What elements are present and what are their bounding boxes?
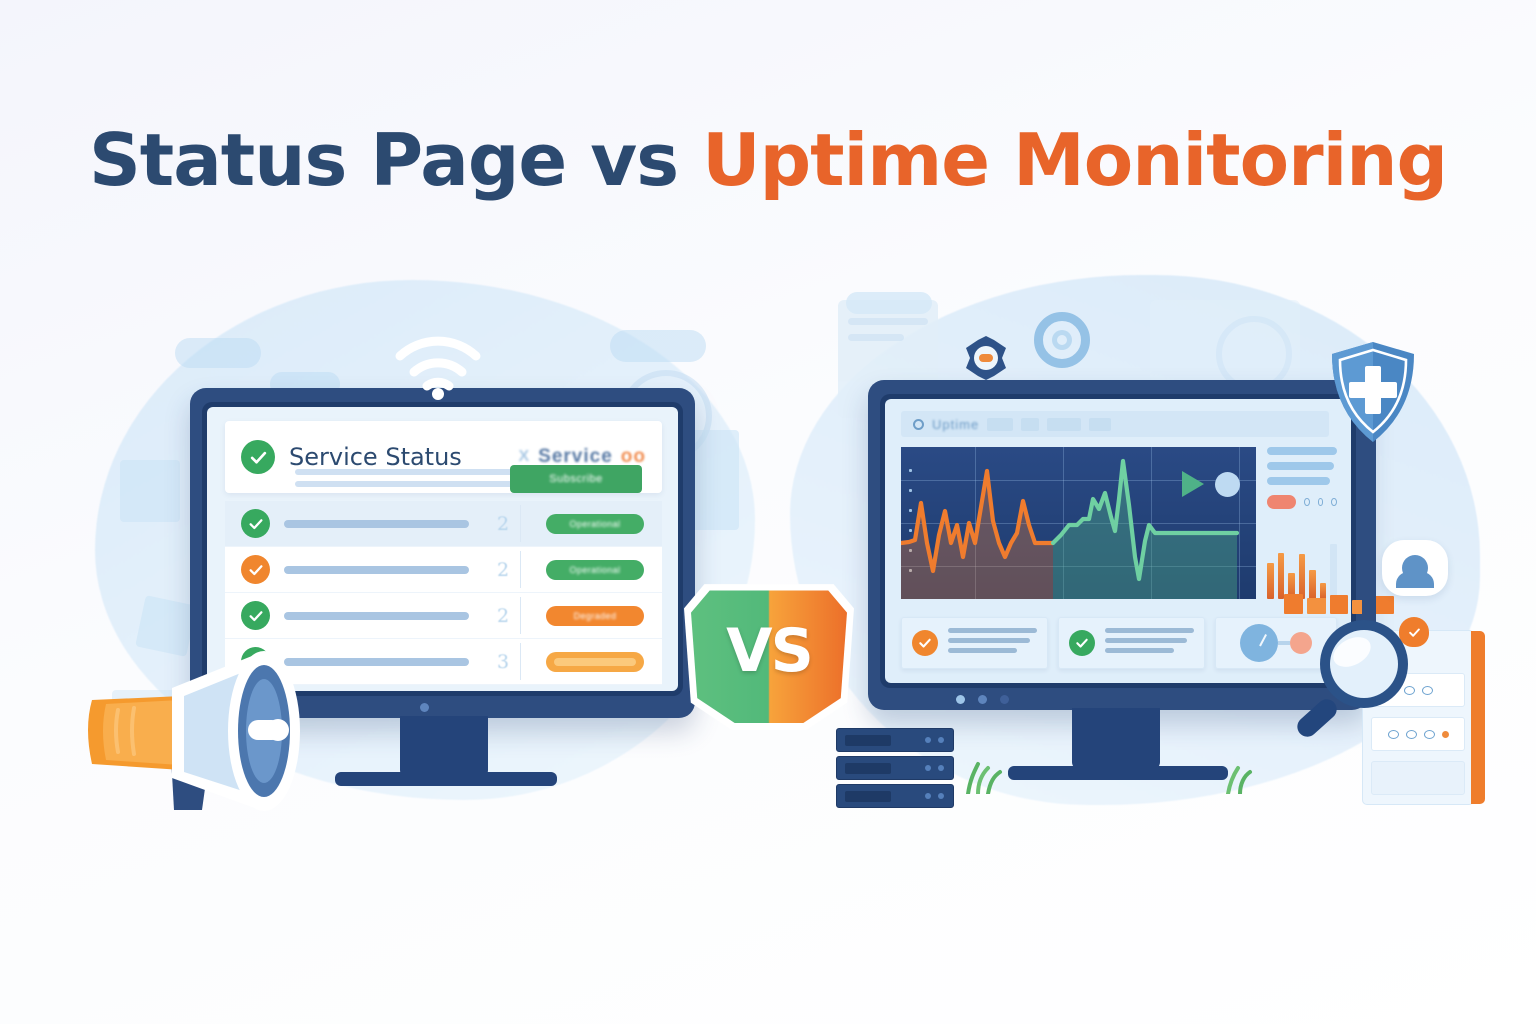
decorative-square: [120, 460, 180, 522]
incident-bar-chart: [1267, 537, 1337, 599]
sidebar-line: [1267, 447, 1337, 455]
monitor-stand-base-left: [335, 772, 557, 786]
monitor-bezel-inner-right: Uptime: [880, 394, 1356, 688]
server-unit: [836, 784, 954, 808]
subscribe-button[interactable]: Subscribe: [510, 465, 642, 493]
check-circle-icon: [912, 630, 938, 656]
table-row[interactable]: 2 Operational: [225, 547, 662, 593]
check-circle-icon: [1069, 630, 1095, 656]
page-title: Status Page vs Uptime Monitoring: [0, 118, 1536, 202]
server-unit: [836, 728, 954, 752]
dashboard-toolbar[interactable]: Uptime: [901, 411, 1329, 437]
title-part-orange: Uptime Monitoring: [702, 118, 1447, 202]
toolbar-segment: [1021, 418, 1039, 431]
vs-badge: VS: [684, 578, 854, 730]
status-badge: Operational: [546, 560, 644, 580]
dashboard-card-row: [901, 617, 1337, 669]
sidebar-pill-row: [1267, 495, 1337, 509]
logo-x-mark: X: [518, 448, 530, 466]
toolbar-segment: [1047, 418, 1081, 431]
magnifier-icon: [1288, 612, 1418, 752]
toolbar-title: Uptime: [932, 417, 979, 432]
card-text-lines: [948, 628, 1037, 658]
check-circle-icon: [241, 601, 270, 630]
circle-outline-icon: [1318, 498, 1324, 506]
table-row[interactable]: 2 Operational: [225, 501, 662, 547]
response-time-chart: [901, 447, 1256, 599]
cloud-icon: [610, 330, 706, 362]
rack-row[interactable]: [1371, 761, 1465, 795]
toolbar-segment: [987, 418, 1013, 431]
table-row[interactable]: 2 Degraded: [225, 593, 662, 639]
server-unit: [836, 756, 954, 780]
megaphone-icon: [62, 638, 322, 813]
dashboard-sidebar: [1267, 447, 1337, 509]
bar-ghost: [1330, 544, 1337, 599]
circle-outline-icon: [1331, 498, 1337, 506]
service-status-title: Service Status: [289, 443, 462, 471]
alert-badge-icon: [962, 334, 1010, 382]
sidebar-line: [1267, 477, 1330, 485]
card-text-lines: [1105, 628, 1194, 658]
document-panel: [846, 292, 932, 314]
mini-bar-strip: [1284, 594, 1394, 614]
row-divider: [520, 551, 521, 588]
circle-outline-icon: [1304, 498, 1310, 506]
wifi-icon: [392, 334, 484, 402]
panel-spine: [1471, 631, 1485, 804]
monitor-led: [956, 695, 965, 704]
status-badge-label: Degraded: [546, 606, 644, 626]
uptime-dashboard-screen: Uptime: [885, 399, 1351, 683]
row-divider: [520, 643, 521, 680]
dashboard-card[interactable]: [1058, 617, 1205, 669]
row-divider: [520, 597, 521, 634]
dashboard-card[interactable]: [901, 617, 1048, 669]
check-circle-icon: [241, 440, 275, 474]
avatar: [1402, 555, 1428, 581]
status-badge: Operational: [546, 514, 644, 534]
cloud-icon: [175, 338, 261, 368]
shield-cross-icon: [1328, 340, 1418, 445]
status-badge-label: Operational: [546, 514, 644, 534]
check-circle-icon: [241, 509, 270, 538]
row-label-bar: [284, 612, 469, 620]
vs-badge-label: VS: [684, 578, 854, 730]
monitor-stand-neck-left: [400, 716, 488, 778]
gear-icon: [1034, 312, 1090, 368]
monitor-led: [420, 703, 429, 712]
grass-decoration: [962, 758, 1008, 799]
monitor-stand-neck-right: [1072, 708, 1160, 770]
service-status-header: Service Status X Service oo Subscribe: [225, 421, 662, 493]
row-count: 2: [497, 513, 509, 535]
monitor-led: [1000, 695, 1009, 704]
title-part-navy: Status Page vs: [89, 118, 702, 202]
avatar-bubble-icon: [1382, 540, 1448, 596]
subscribe-button-label: Subscribe: [510, 465, 642, 493]
grass-decoration: [1222, 762, 1262, 799]
monitor-led: [978, 695, 987, 704]
status-badge-inner: [554, 658, 636, 666]
row-label-bar: [284, 520, 469, 528]
toolbar-segment: [1089, 418, 1111, 431]
row-divider: [520, 505, 521, 542]
status-badge: Degraded: [546, 606, 644, 626]
alert-pill: [1267, 495, 1296, 509]
check-circle-icon: [241, 555, 270, 584]
chart-series-paths: [901, 447, 1256, 599]
illustration-canvas: Status Page vs Uptime Monitoring: [0, 0, 1536, 1024]
server-stack-icon: [836, 728, 954, 810]
row-count: 3: [497, 651, 509, 673]
row-label-bar: [284, 566, 469, 574]
bar: [1267, 563, 1274, 599]
status-dot-icon: [1215, 472, 1240, 497]
play-triangle-icon: [1182, 471, 1204, 497]
sidebar-line: [1267, 462, 1334, 470]
circle-icon: [913, 419, 924, 430]
monitor-stand-base-right: [1008, 766, 1228, 780]
bar: [1299, 554, 1306, 599]
gauge-icon: [1240, 624, 1278, 662]
status-badge: [546, 652, 644, 672]
status-badge-label: Operational: [546, 560, 644, 580]
bar: [1278, 553, 1285, 599]
row-count: 2: [497, 559, 509, 581]
row-count: 2: [497, 605, 509, 627]
